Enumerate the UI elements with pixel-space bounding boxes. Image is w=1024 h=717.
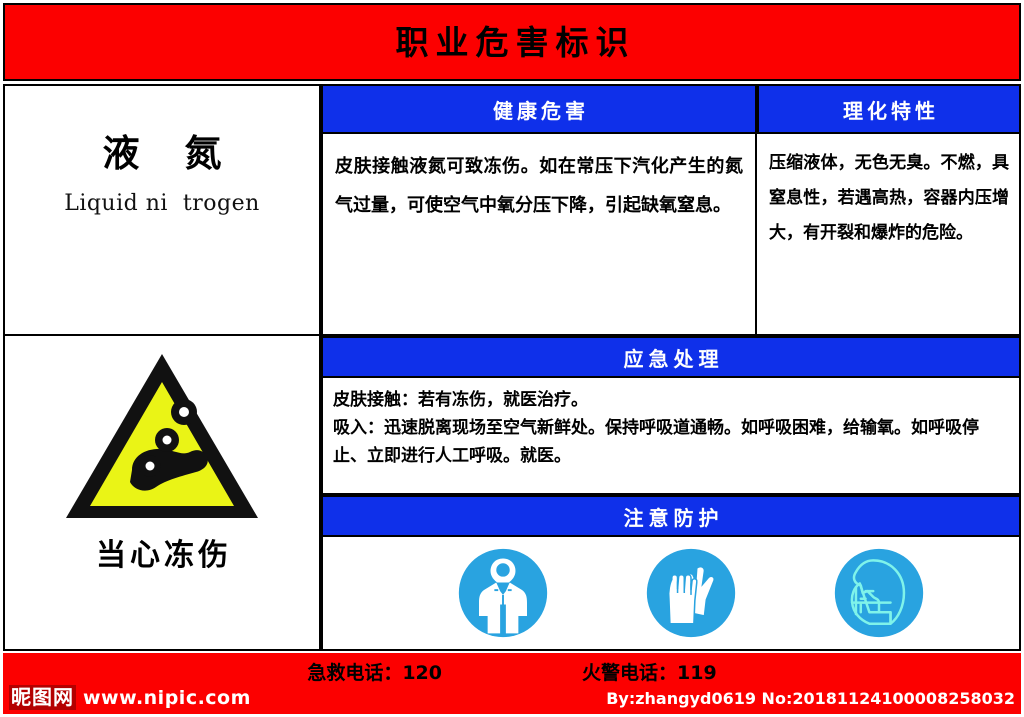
health-hazard-text: 皮肤接触液氮可致冻伤。如在常压下汽化产生的氮气过量，可使空气中氧分压下降，引起缺… <box>335 148 743 225</box>
protection-cell <box>321 537 1021 651</box>
pictogram-cell: 当心冻伤 <box>3 336 321 651</box>
substance-name-en: Liquid ni trogen <box>64 191 260 216</box>
watermark-url: www.nipic.com <box>83 687 251 709</box>
right-column: 健康危害 理化特性 皮肤接触液氮可致冻伤。如在常压下汽化产生的氮气过量，可使空气… <box>321 84 1021 651</box>
protective-gloves-icon <box>643 545 739 641</box>
emergency-inhalation-text: 吸入：迅速脱离现场至空气新鲜处。保持呼吸道通畅。如呼吸困难，给输氧。如呼吸停止、… <box>333 414 1011 470</box>
credit-line: By:zhangyd0619 No:20181124100008258032 <box>606 689 1015 708</box>
health-hazard-header: 健康危害 <box>321 84 757 134</box>
protection-header: 注意防护 <box>321 495 1021 537</box>
properties-cell: 压缩液体，无色无臭。不燃，具窒息性，若遇高热，容器内压增大，有开裂和爆炸的危险。 <box>757 134 1021 336</box>
health-hazard-cell: 皮肤接触液氮可致冻伤。如在常压下汽化产生的氮气过量，可使空气中氧分压下降，引起缺… <box>321 134 757 336</box>
emergency-cell: 皮肤接触：若有冻伤，就医治疗。 吸入：迅速脱离现场至空气新鲜处。保持呼吸道通畅。… <box>321 378 1021 495</box>
emergency-phone-numbers: 急救电话：120 火警电话：119 <box>3 658 1021 685</box>
emergency-skin-contact-text: 皮肤接触：若有冻伤，就医治疗。 <box>333 386 1011 414</box>
pictogram-label: 当心冻伤 <box>92 530 232 574</box>
protective-suit-icon <box>455 545 551 641</box>
warning-frostbite-icon <box>62 348 262 524</box>
substance-name-cell: 液 氮 Liquid ni trogen <box>3 84 321 336</box>
title-bar: 职业危害标识 <box>3 3 1021 81</box>
sign-body: 液 氮 Liquid ni trogen <box>3 84 1021 651</box>
left-column: 液 氮 Liquid ni trogen <box>3 84 321 651</box>
ambulance-phone: 急救电话：120 <box>307 658 442 685</box>
substance-name-cn: 液 氮 <box>87 134 238 175</box>
watermark: 昵图网 www.nipic.com <box>9 685 251 710</box>
page-title: 职业危害标识 <box>389 26 636 59</box>
properties-header: 理化特性 <box>757 84 1021 134</box>
watermark-logo: 昵图网 <box>9 685 76 710</box>
occupational-hazard-sign: 职业危害标识 液 氮 Liquid ni trogen <box>0 0 1024 717</box>
emergency-header: 应急处理 <box>321 336 1021 378</box>
face-shield-icon <box>831 545 927 641</box>
fire-phone: 火警电话：119 <box>582 658 717 685</box>
properties-text: 压缩液体，无色无臭。不燃，具窒息性，若遇高热，容器内压增大，有开裂和爆炸的危险。 <box>769 146 1009 251</box>
footer: 急救电话：120 火警电话：119 昵图网 www.nipic.com By:z… <box>3 653 1021 714</box>
